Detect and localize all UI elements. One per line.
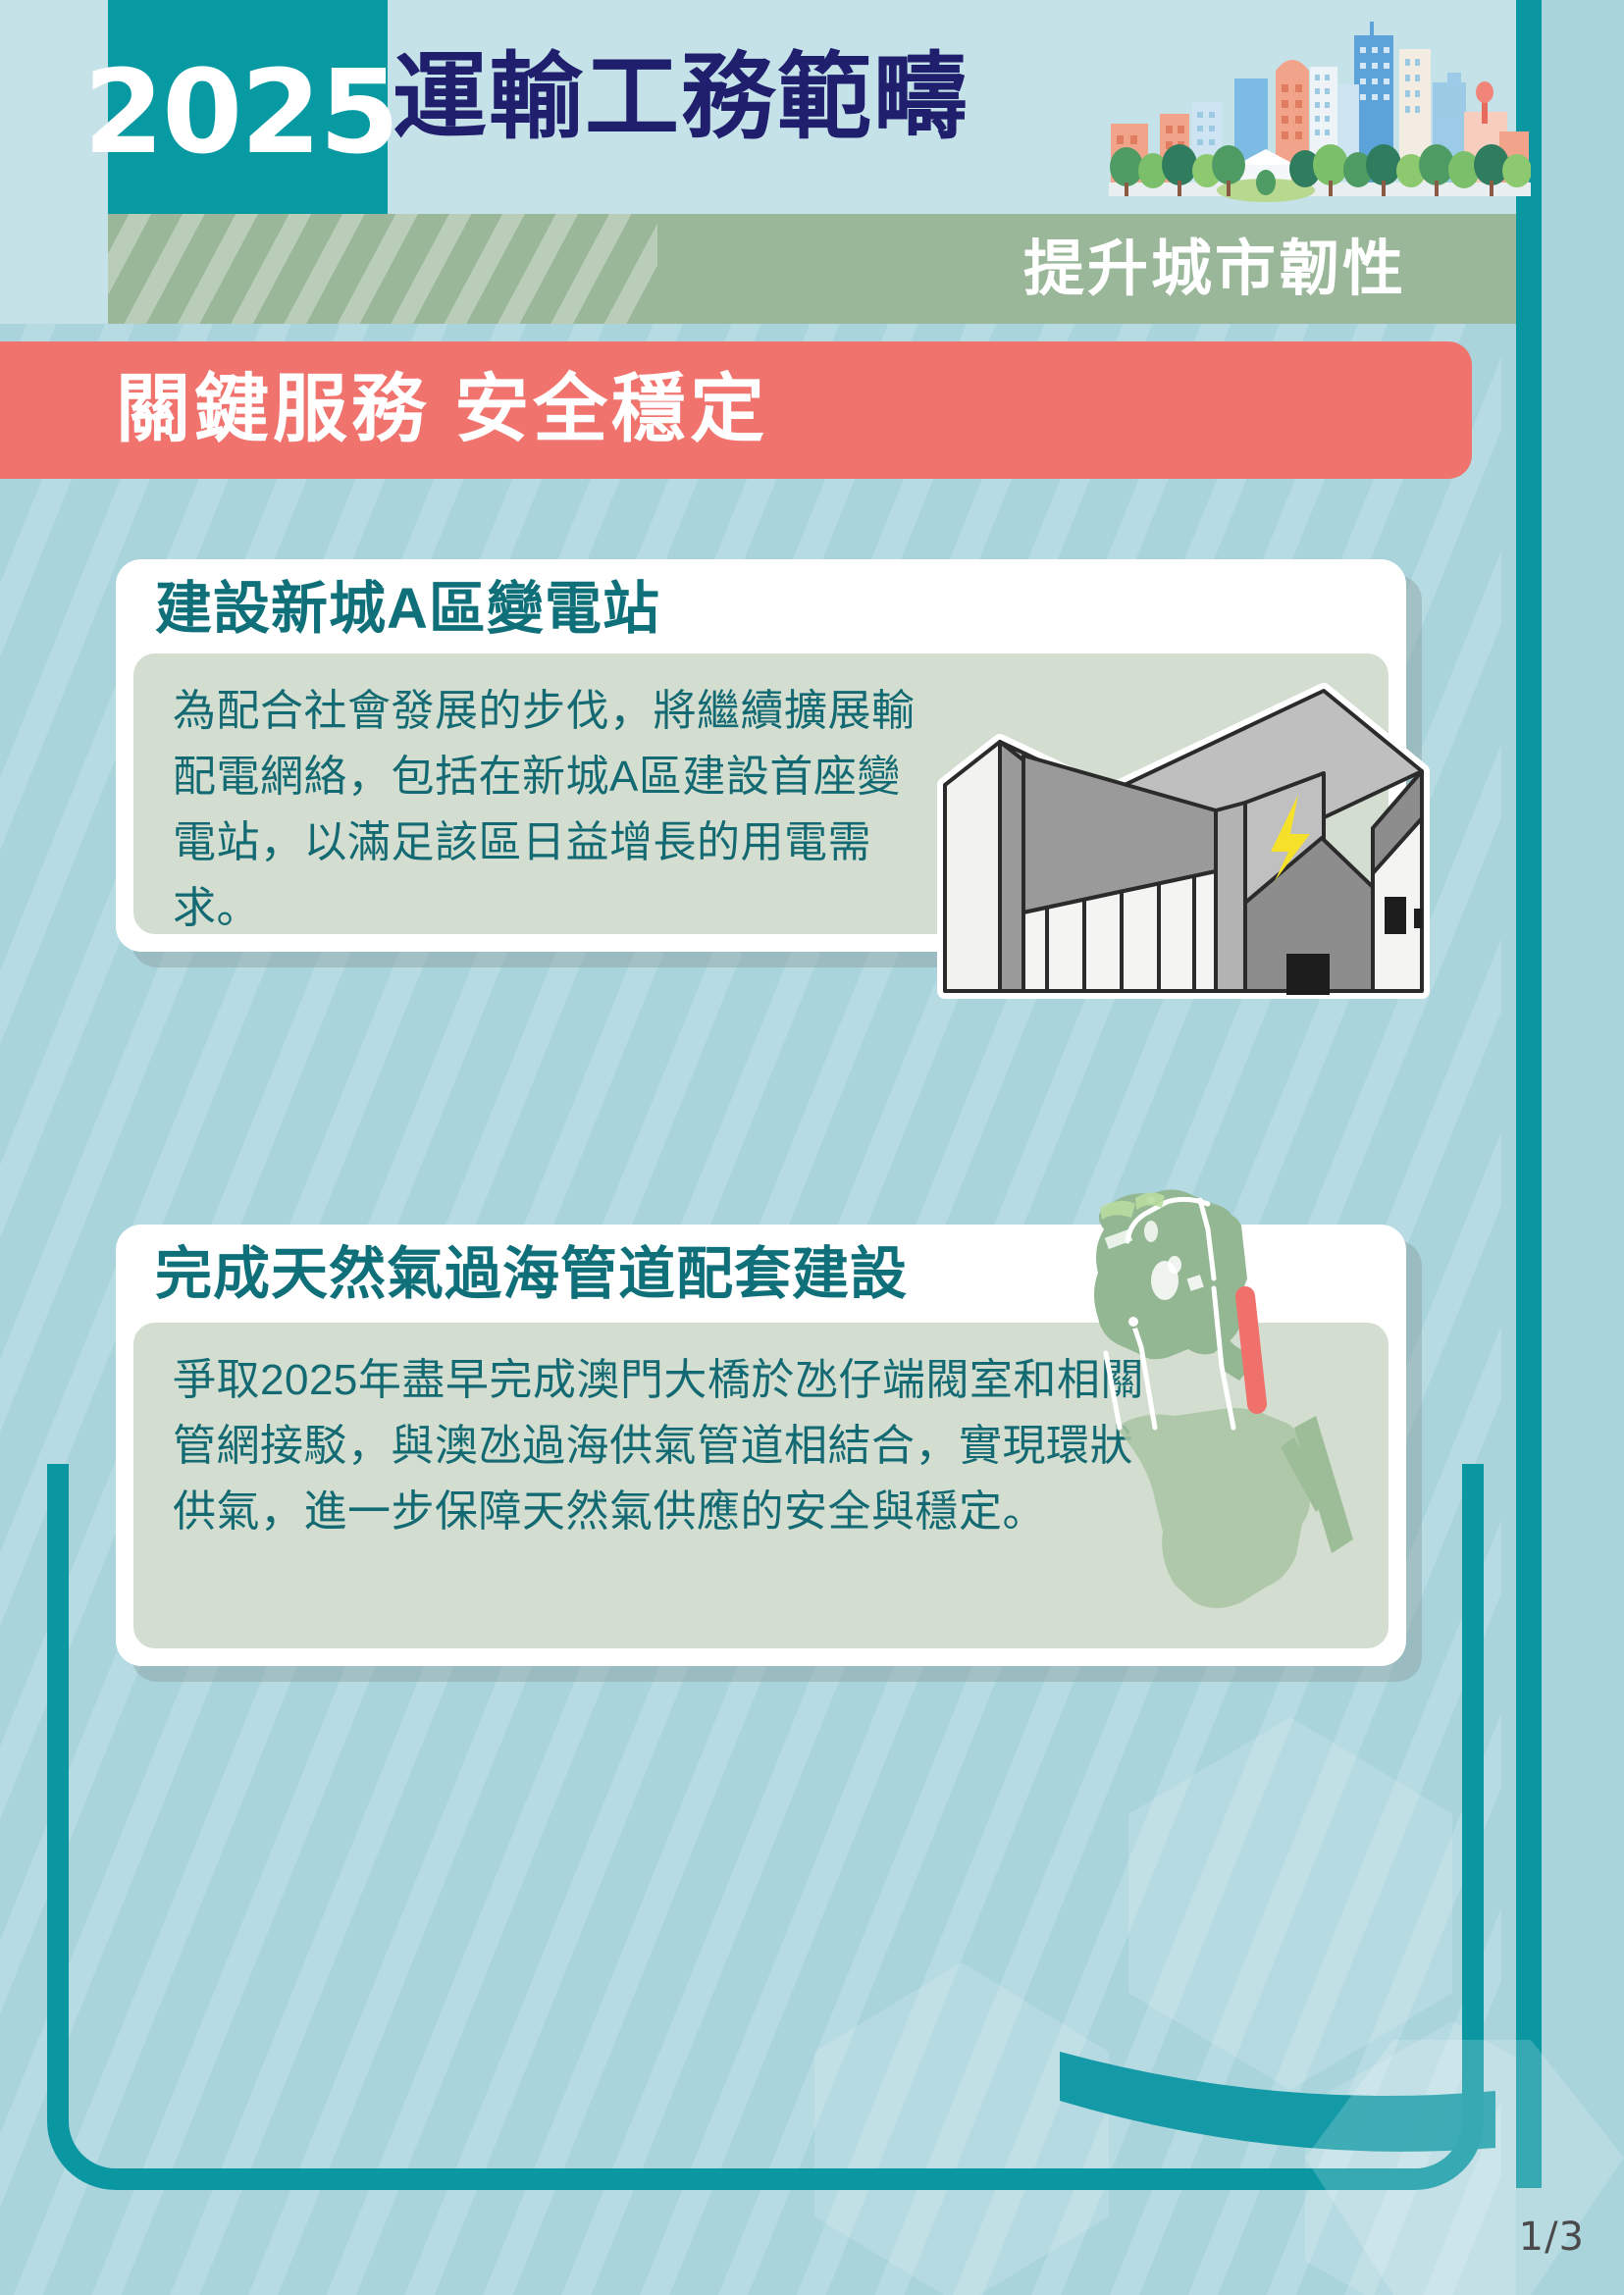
bottom-swoosh-decoration bbox=[0, 2040, 1624, 2295]
page-indicator: 1/3 bbox=[1519, 2215, 1585, 2260]
page-title: 運輸工務範疇 bbox=[393, 47, 969, 149]
poster-header: 2025 運輸工務範疇 提升城市韌性 bbox=[0, 0, 1516, 324]
card-title: 完成天然氣過海管道配套建設 bbox=[155, 1242, 908, 1308]
card-body-text: 爭取2025年盡早完成澳門大橋於氹仔端閥室和相關管網接駁，與澳氹過海供氣管道相結… bbox=[173, 1348, 1154, 1545]
header-green-band-stripes bbox=[108, 214, 657, 324]
city-skyline-icon bbox=[1109, 18, 1531, 219]
right-side-teal-bar bbox=[1516, 0, 1542, 2188]
content-card-substation: 建設新城A區變電站 為配合社會發展的步伐，將繼續擴展輸配電網絡，包括在新城A區建… bbox=[116, 559, 1406, 952]
section-banner-label: 關鍵服務 安全穩定 bbox=[116, 365, 768, 454]
substation-building-icon bbox=[916, 679, 1465, 1013]
pipeline-route-highlight bbox=[1245, 1296, 1257, 1404]
infographic-poster: 2025 運輸工務範疇 提升城市韌性 關鍵服務 安全穩定 建設新城A區變電站 為… bbox=[0, 0, 1624, 2295]
header-year-label: 2025 bbox=[83, 54, 397, 170]
card-body-text: 為配合社會發展的步伐，將繼續擴展輸配電網絡，包括在新城A區建設首座變電站，以滿足… bbox=[173, 679, 938, 934]
macau-map-icon bbox=[1084, 1171, 1388, 1642]
header-subtitle: 提升城市韌性 bbox=[1023, 224, 1406, 315]
right-side-rail bbox=[1516, 0, 1624, 2295]
card-title: 建設新城A區變電站 bbox=[155, 577, 660, 643]
content-card-gas-pipeline: 完成天然氣過海管道配套建設 爭取2025年盡早完成澳門大橋於氹仔端閥室和相關管網… bbox=[116, 1225, 1406, 1666]
